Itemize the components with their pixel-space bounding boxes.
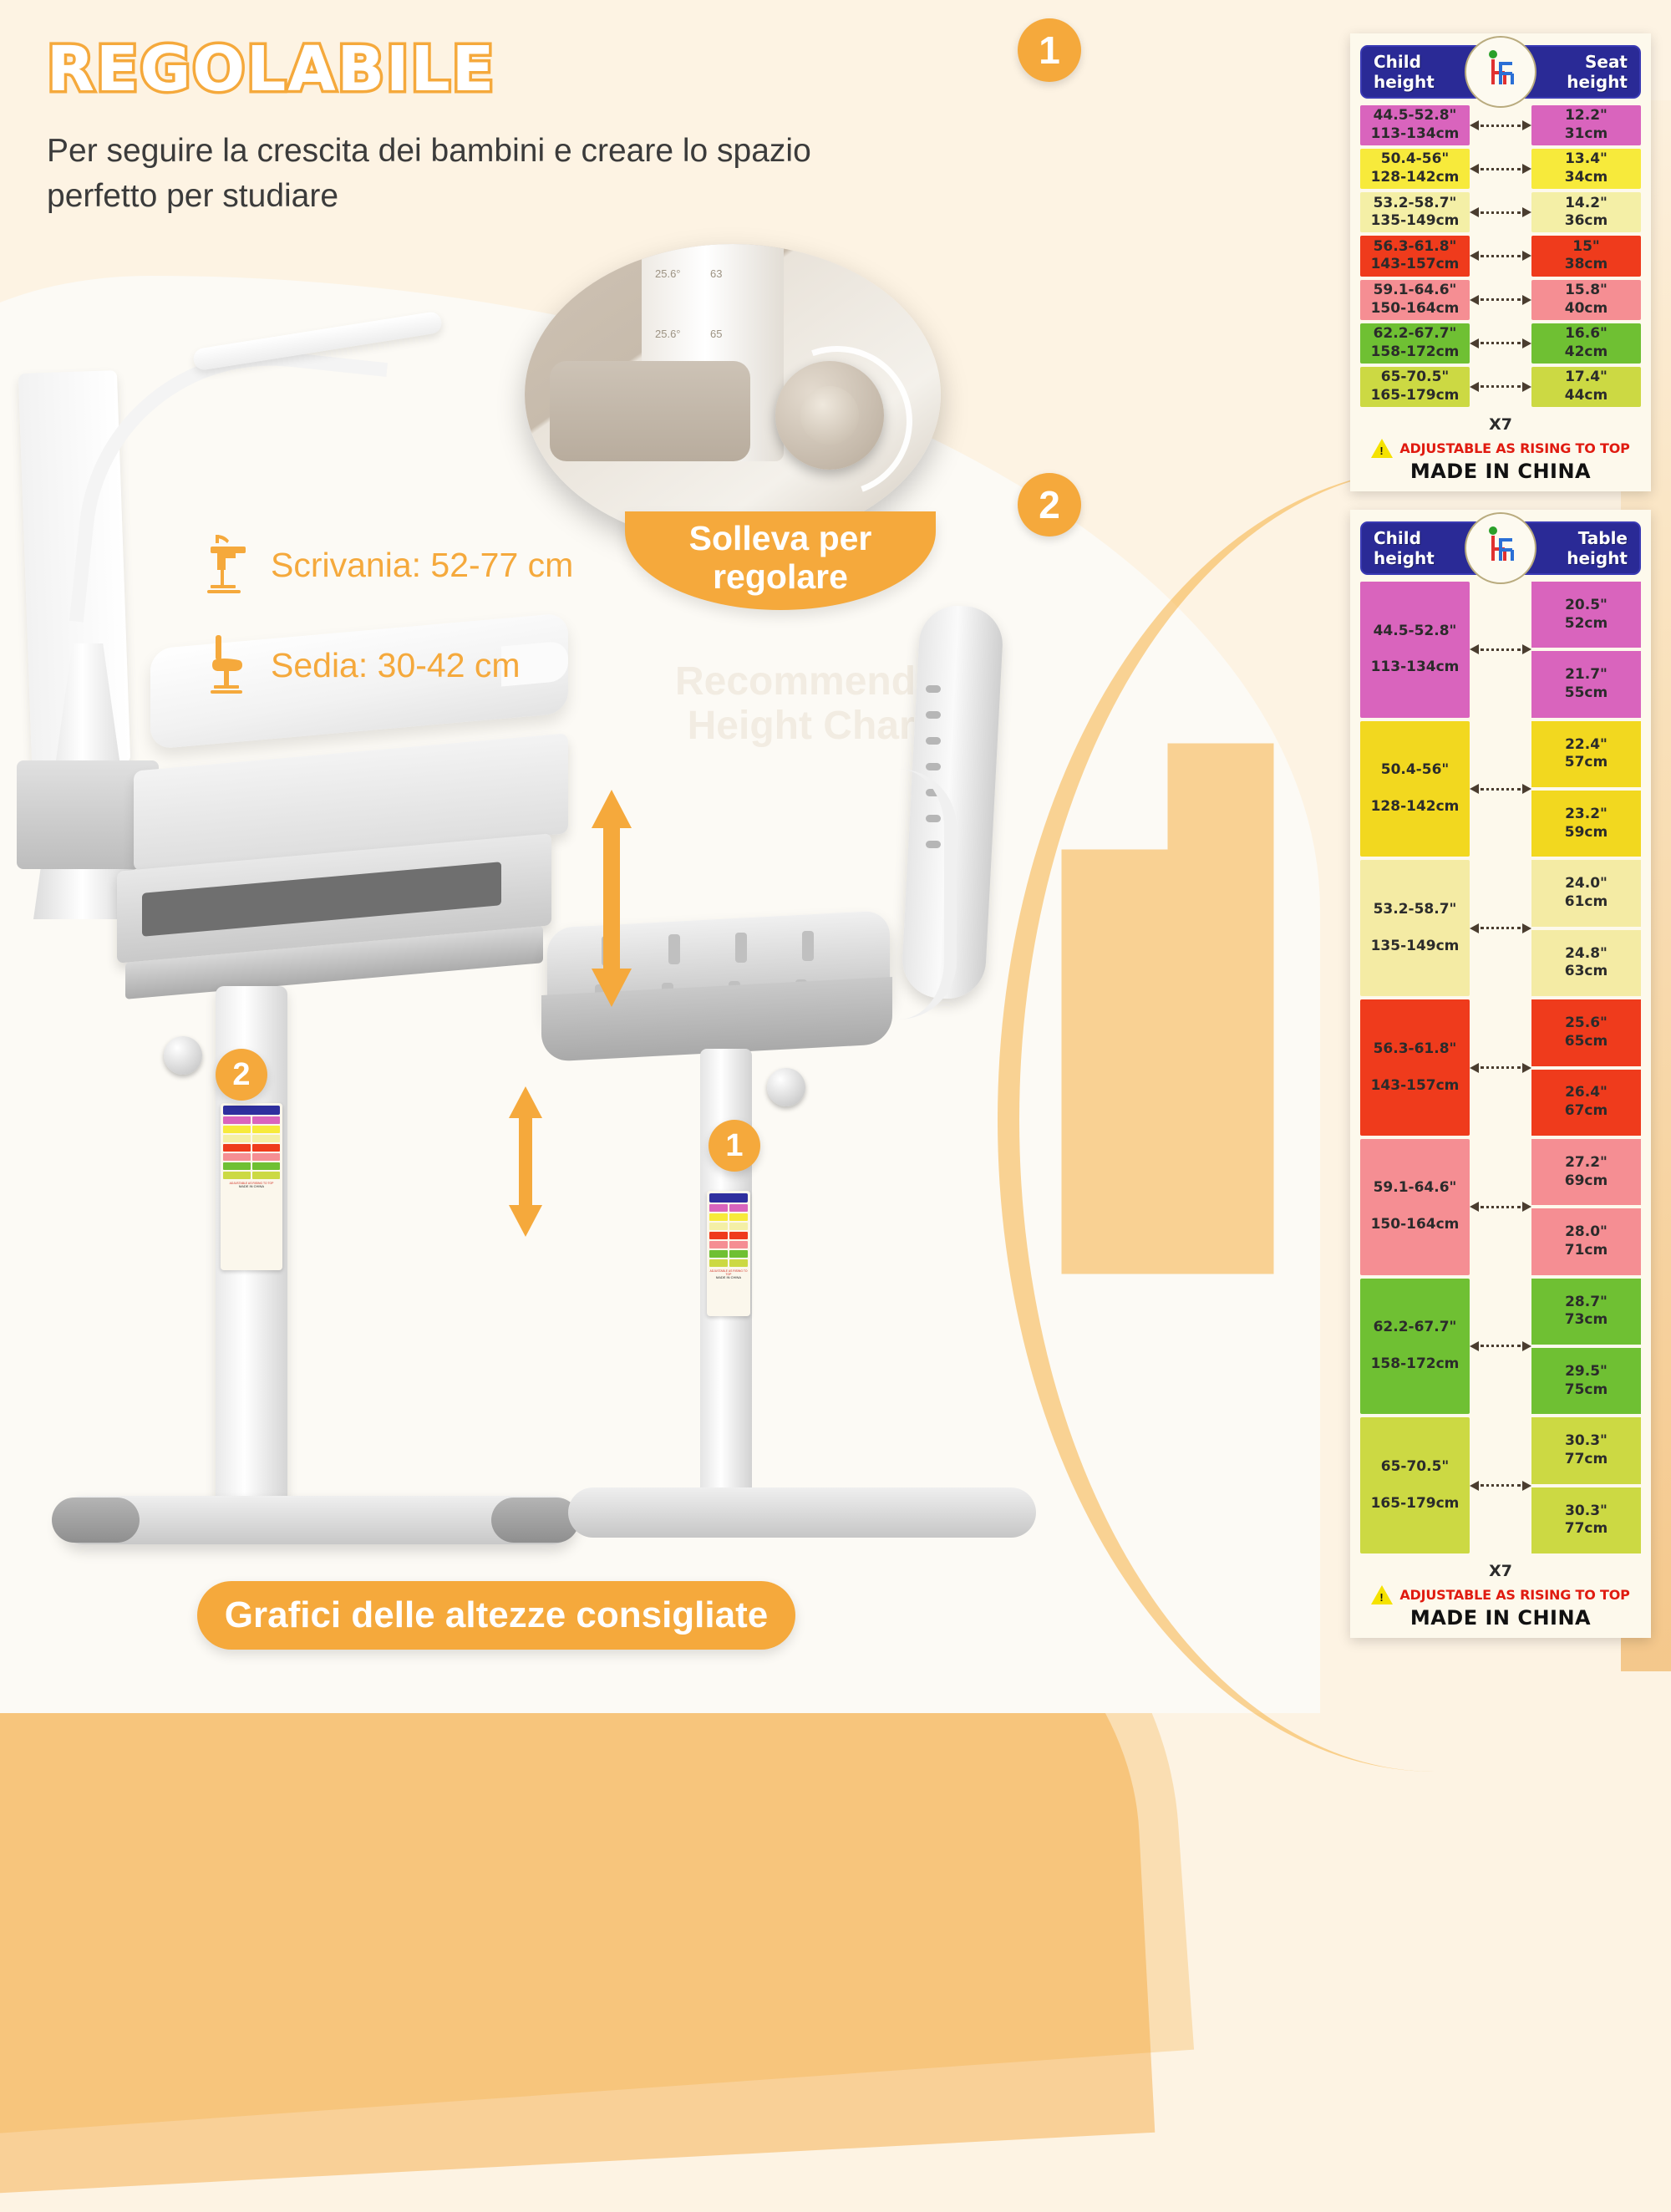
row-connector — [1470, 236, 1531, 276]
table-height-inches: 21.7" — [1565, 666, 1608, 684]
child-height-inches: 44.5-52.8" — [1374, 623, 1457, 641]
double-arrow-icon — [1470, 1062, 1531, 1074]
double-arrow-icon — [1470, 1480, 1531, 1492]
table-row: 65-70.5" 165-179cm 30.3" 77cm 30.3" 77cm — [1360, 1417, 1641, 1553]
table-height-cm: 75cm — [1565, 1381, 1608, 1400]
bottom-banner: Grafici delle altezze consigliate — [197, 1581, 795, 1650]
chart-2-table-height-cell: 24.8" 63cm — [1531, 930, 1641, 996]
chart-2-table-height-cell: 26.4" 67cm — [1531, 1070, 1641, 1136]
double-arrow-icon — [1470, 923, 1531, 934]
chair-foot — [568, 1487, 1036, 1538]
table-height-cm: 77cm — [1565, 1451, 1608, 1469]
magnified-micro-label: 63 — [710, 267, 722, 280]
table-height-inches: 30.3" — [1565, 1432, 1608, 1451]
chart-2-table-height-cell: 21.7" 55cm — [1531, 651, 1641, 717]
seated-child-icon — [1465, 36, 1536, 108]
row-connector — [1470, 1139, 1531, 1275]
table-height-inches: 27.2" — [1565, 1154, 1608, 1172]
seat-height-chart: Child height Seat height 44.5-52.8" 113-… — [1350, 33, 1651, 491]
table-row: 44.5-52.8" 113-134cm 12.2" 31cm — [1360, 105, 1641, 145]
child-height-inches: 56.3-61.8" — [1374, 1040, 1457, 1059]
chart-1-child-height-cell: 50.4-56" 128-142cm — [1360, 149, 1470, 189]
chart-2-child-height-cell: 44.5-52.8" 113-134cm — [1360, 582, 1470, 718]
chart-2-child-height-cell: 50.4-56" 128-142cm — [1360, 721, 1470, 857]
magnified-micro-label: 65 — [710, 328, 722, 340]
child-height-cm: 158-172cm — [1371, 343, 1460, 362]
chart-1-col-right-label: Seat height — [1527, 52, 1628, 92]
child-height-cm: 165-179cm — [1371, 387, 1460, 405]
row-connector — [1470, 323, 1531, 364]
chart-2-count-label: X7 — [1360, 1562, 1641, 1580]
table-height-cm: 61cm — [1565, 893, 1608, 912]
table-height-cm: 69cm — [1565, 1172, 1608, 1191]
chair-height-knob — [767, 1068, 805, 1106]
chart-2-child-height-cell: 59.1-64.6" 150-164cm — [1360, 1139, 1470, 1275]
table-height-inches: 20.5" — [1565, 597, 1608, 615]
chart-2-table-height-cell: 28.0" 71cm — [1531, 1208, 1641, 1274]
chart-1-footer: X7 ADJUSTABLE AS RISING TO TOP MADE IN C… — [1360, 410, 1641, 483]
row-connector — [1470, 999, 1531, 1136]
row-connector — [1470, 280, 1531, 320]
chair-height-arrow — [503, 1086, 548, 1241]
desk-height-knob — [164, 1036, 202, 1075]
product-photo: 2 1 ADJUSTABLE AS RISING TO TOPMADE IN C… — [0, 251, 1086, 1671]
row-connector — [1470, 105, 1531, 145]
chart-2-table-height-stack: 27.2" 69cm 28.0" 71cm — [1531, 1139, 1641, 1275]
chart-2-table-height-cell: 22.4" 57cm — [1531, 721, 1641, 787]
table-row: 50.4-56" 128-142cm 13.4" 34cm — [1360, 149, 1641, 189]
table-row: 53.2-58.7" 135-149cm 24.0" 61cm 24.8" 63… — [1360, 860, 1641, 996]
chart-2-table-height-cell: 28.7" 73cm — [1531, 1279, 1641, 1345]
seat-height-inches: 17.4" — [1565, 369, 1608, 387]
row-connector — [1470, 721, 1531, 857]
chart-1-body: 44.5-52.8" 113-134cm 12.2" 31cm 50.4-56"… — [1360, 99, 1641, 410]
table-height-cm: 57cm — [1565, 754, 1608, 772]
table-height-inches: 24.8" — [1565, 945, 1608, 964]
seat-height-cm: 36cm — [1565, 212, 1608, 231]
desk-height-arrow — [585, 790, 638, 1011]
magnified-clamp — [550, 361, 750, 461]
chart-1-step-badge: 1 — [1018, 18, 1081, 82]
chart-2-child-height-cell: 65-70.5" 165-179cm — [1360, 1417, 1470, 1553]
magnified-micro-label: 25.6° — [655, 267, 681, 280]
double-arrow-icon — [1470, 338, 1531, 349]
row-connector — [1470, 860, 1531, 996]
chair-seat-slot — [668, 934, 680, 964]
child-height-cm: 135-149cm — [1371, 212, 1460, 231]
chair-seat-slot — [735, 933, 747, 963]
table-height-inches: 23.2" — [1565, 806, 1608, 824]
double-arrow-icon — [1470, 783, 1531, 795]
chair-icon — [204, 633, 252, 697]
row-connector — [1470, 1417, 1531, 1553]
child-height-inches: 59.1-64.6" — [1374, 1179, 1457, 1198]
table-row: 56.3-61.8" 143-157cm 25.6" 65cm 26.4" 67… — [1360, 999, 1641, 1136]
seat-height-inches: 15.8" — [1565, 282, 1608, 300]
chart-2-table-height-cell: 24.0" 61cm — [1531, 860, 1641, 926]
seat-height-cm: 44cm — [1565, 387, 1608, 405]
seat-height-cm: 34cm — [1565, 169, 1608, 187]
seat-height-inches: 14.2" — [1565, 195, 1608, 213]
child-height-cm: 165-179cm — [1371, 1495, 1460, 1513]
seat-height-inches: 16.6" — [1565, 325, 1608, 343]
table-height-inches: 25.6" — [1565, 1014, 1608, 1033]
chart-2-child-height-cell: 62.2-67.7" 158-172cm — [1360, 1279, 1470, 1415]
child-height-cm: 150-164cm — [1371, 1216, 1460, 1234]
chart-2-header: Child height Table height — [1360, 521, 1641, 575]
chart-1-seat-height-cell: 15" 38cm — [1531, 236, 1641, 276]
chart-2-table-height-stack: 20.5" 52cm 21.7" 55cm — [1531, 582, 1641, 718]
table-row: 56.3-61.8" 143-157cm 15" 38cm — [1360, 236, 1641, 276]
step-badge-chair: 1 — [709, 1120, 760, 1172]
table-row: 59.1-64.6" 150-164cm 27.2" 69cm 28.0" 71… — [1360, 1139, 1641, 1275]
seat-height-inches: 12.2" — [1565, 107, 1608, 125]
chair-seat-slot — [802, 931, 814, 961]
magnifier-inset: 25.6° 63 25.6° 65 — [525, 244, 941, 545]
chart-1-warning-text: ADJUSTABLE AS RISING TO TOP — [1399, 440, 1629, 456]
chart-1-child-height-cell: 44.5-52.8" 113-134cm — [1360, 105, 1470, 145]
double-arrow-icon — [1470, 1340, 1531, 1352]
double-arrow-icon — [1470, 119, 1531, 131]
chart-1-child-height-cell: 65-70.5" 165-179cm — [1360, 367, 1470, 407]
table-row: 62.2-67.7" 158-172cm 16.6" 42cm — [1360, 323, 1641, 364]
chart-2-table-height-stack: 22.4" 57cm 23.2" 59cm — [1531, 721, 1641, 857]
table-height-inches: 24.0" — [1565, 875, 1608, 893]
table-height-cm: 73cm — [1565, 1311, 1608, 1330]
chair-measurement-label: Sedia: 30-42 cm — [204, 633, 521, 697]
chart-1-seat-height-cell: 14.2" 36cm — [1531, 192, 1641, 232]
seat-height-cm: 40cm — [1565, 300, 1608, 318]
chair-range-text: Sedia: 30-42 cm — [271, 646, 521, 685]
callout-line-2: regolare — [689, 558, 872, 597]
table-height-cm: 55cm — [1565, 684, 1608, 703]
page-title: REGOLABILE — [47, 38, 999, 100]
desk-icon — [204, 533, 252, 597]
table-row: 53.2-58.7" 135-149cm 14.2" 36cm — [1360, 192, 1641, 232]
seat-height-cm: 38cm — [1565, 256, 1608, 274]
table-row: 65-70.5" 165-179cm 17.4" 44cm — [1360, 367, 1641, 407]
chart-2-col-right-label: Table height — [1527, 528, 1628, 568]
table-height-cm: 52cm — [1565, 615, 1608, 633]
table-height-chart: Child height Table height 44.5-52.8" 113… — [1350, 510, 1651, 1638]
magnified-micro-label: 25.6° — [655, 328, 681, 340]
chart-2-table-height-cell: 30.3" 77cm — [1531, 1417, 1641, 1483]
chart-2-table-height-cell: 27.2" 69cm — [1531, 1139, 1641, 1205]
header: REGOLABILE Per seguire la crescita dei b… — [47, 38, 999, 219]
chart-2-table-height-stack: 25.6" 65cm 26.4" 67cm — [1531, 999, 1641, 1136]
table-row: 62.2-67.7" 158-172cm 28.7" 73cm 29.5" 75… — [1360, 1279, 1641, 1415]
child-height-cm: 128-142cm — [1371, 798, 1460, 816]
child-height-cm: 143-157cm — [1371, 1077, 1460, 1096]
chart-1-child-height-cell: 62.2-67.7" 158-172cm — [1360, 323, 1470, 364]
desk-foot-cap-left — [52, 1498, 140, 1543]
table-height-cm: 67cm — [1565, 1102, 1608, 1121]
double-arrow-icon — [1470, 163, 1531, 175]
table-height-cm: 77cm — [1565, 1520, 1608, 1538]
desk-range-text: Scrivania: 52-77 cm — [271, 546, 573, 585]
table-height-inches: 28.0" — [1565, 1223, 1608, 1242]
chart-2-child-height-cell: 53.2-58.7" 135-149cm — [1360, 860, 1470, 996]
child-height-cm: 143-157cm — [1371, 256, 1460, 274]
chart-2-origin-text: MADE IN CHINA — [1360, 1606, 1641, 1630]
child-height-inches: 53.2-58.7" — [1374, 195, 1457, 213]
chart-2-step-badge: 2 — [1018, 473, 1081, 536]
mini-height-chart-desk: ADJUSTABLE AS RISING TO TOPMADE IN CHINA — [221, 1103, 282, 1270]
warning-triangle-icon — [1371, 439, 1393, 458]
mini-origin-text: MADE IN CHINA — [716, 1275, 741, 1279]
table-row: 50.4-56" 128-142cm 22.4" 57cm 23.2" 59cm — [1360, 721, 1641, 857]
callout-line-1: Solleva per — [689, 520, 872, 558]
seat-height-cm: 42cm — [1565, 343, 1608, 362]
chart-1-col-left-label: Child height — [1374, 52, 1474, 92]
chart-2-table-height-stack: 30.3" 77cm 30.3" 77cm — [1531, 1417, 1641, 1553]
chart-1-child-height-cell: 53.2-58.7" 135-149cm — [1360, 192, 1470, 232]
page-subtitle: Per seguire la crescita dei bambini e cr… — [47, 129, 899, 219]
table-row: 44.5-52.8" 113-134cm 20.5" 52cm 21.7" 55… — [1360, 582, 1641, 718]
child-height-inches: 44.5-52.8" — [1374, 107, 1457, 125]
chart-1-child-height-cell: 56.3-61.8" 143-157cm — [1360, 236, 1470, 276]
table-height-inches: 22.4" — [1565, 736, 1608, 755]
child-height-inches: 62.2-67.7" — [1374, 1319, 1457, 1337]
chart-2-body: 44.5-52.8" 113-134cm 20.5" 52cm 21.7" 55… — [1360, 575, 1641, 1557]
row-connector — [1470, 149, 1531, 189]
chart-1-seat-height-cell: 15.8" 40cm — [1531, 280, 1641, 320]
seat-height-inches: 15" — [1572, 238, 1600, 257]
row-connector — [1470, 582, 1531, 718]
seated-child-icon — [1465, 512, 1536, 584]
child-height-inches: 50.4-56" — [1381, 150, 1450, 169]
desk-foot-cap-right — [491, 1498, 579, 1543]
chart-2-table-height-stack: 24.0" 61cm 24.8" 63cm — [1531, 860, 1641, 996]
double-arrow-icon — [1470, 294, 1531, 306]
seat-height-inches: 13.4" — [1565, 150, 1608, 169]
child-height-inches: 53.2-58.7" — [1374, 901, 1457, 919]
row-connector — [1470, 1279, 1531, 1415]
table-height-cm: 71cm — [1565, 1242, 1608, 1260]
child-height-inches: 65-70.5" — [1381, 369, 1450, 387]
desk-measurement-label: Scrivania: 52-77 cm — [204, 533, 573, 597]
child-height-inches: 56.3-61.8" — [1374, 238, 1457, 257]
chart-1-origin-text: MADE IN CHINA — [1360, 460, 1641, 483]
child-height-inches: 59.1-64.6" — [1374, 282, 1457, 300]
chart-1-header: Child height Seat height — [1360, 45, 1641, 99]
chart-2-table-height-stack: 28.7" 73cm 29.5" 75cm — [1531, 1279, 1641, 1415]
chart-1-seat-height-cell: 16.6" 42cm — [1531, 323, 1641, 364]
table-height-inches: 30.3" — [1565, 1503, 1608, 1521]
chart-1-child-height-cell: 59.1-64.6" 150-164cm — [1360, 280, 1470, 320]
table-height-inches: 29.5" — [1565, 1363, 1608, 1381]
chart-2-col-left-label: Child height — [1374, 528, 1474, 568]
table-height-cm: 63cm — [1565, 963, 1608, 981]
mini-height-chart-chair: ADJUSTABLE AS RISING TO TOPMADE IN CHINA — [707, 1191, 750, 1316]
double-arrow-icon — [1470, 250, 1531, 262]
warning-triangle-icon — [1371, 1585, 1393, 1604]
table-height-inches: 26.4" — [1565, 1084, 1608, 1102]
step-badge-desk: 2 — [216, 1049, 267, 1101]
child-height-cm: 113-134cm — [1371, 659, 1460, 677]
child-height-cm: 135-149cm — [1371, 938, 1460, 956]
table-height-cm: 59cm — [1565, 824, 1608, 842]
chart-2-footer: X7 ADJUSTABLE AS RISING TO TOP MADE IN C… — [1360, 1557, 1641, 1630]
chart-1-warning-line: ADJUSTABLE AS RISING TO TOP — [1360, 439, 1641, 458]
chart-2-child-height-cell: 56.3-61.8" 143-157cm — [1360, 999, 1470, 1136]
child-height-inches: 50.4-56" — [1381, 761, 1450, 780]
table-height-cm: 65cm — [1565, 1033, 1608, 1051]
double-arrow-icon — [1470, 1201, 1531, 1213]
chart-2-table-height-cell: 20.5" 52cm — [1531, 582, 1641, 648]
chart-2-table-height-cell: 29.5" 75cm — [1531, 1348, 1641, 1414]
double-arrow-icon — [1470, 643, 1531, 655]
chart-2-table-height-cell: 23.2" 59cm — [1531, 791, 1641, 857]
row-connector — [1470, 367, 1531, 407]
chart-2-warning-line: ADJUSTABLE AS RISING TO TOP — [1360, 1585, 1641, 1604]
double-arrow-icon — [1470, 381, 1531, 393]
seat-height-cm: 31cm — [1565, 125, 1608, 144]
row-connector — [1470, 192, 1531, 232]
chart-2-table-height-cell: 30.3" 77cm — [1531, 1487, 1641, 1553]
bottom-banner-label: Grafici delle altezze consigliate — [225, 1594, 768, 1636]
chart-1-seat-height-cell: 12.2" 31cm — [1531, 105, 1641, 145]
child-height-cm: 158-172cm — [1371, 1355, 1460, 1374]
chart-2-table-height-cell: 25.6" 65cm — [1531, 999, 1641, 1065]
table-height-inches: 28.7" — [1565, 1294, 1608, 1312]
child-height-cm: 113-134cm — [1371, 125, 1460, 144]
child-height-cm: 150-164cm — [1371, 300, 1460, 318]
mini-origin-text: MADE IN CHINA — [239, 1184, 264, 1188]
child-height-inches: 62.2-67.7" — [1374, 325, 1457, 343]
child-height-cm: 128-142cm — [1371, 169, 1460, 187]
table-row: 59.1-64.6" 150-164cm 15.8" 40cm — [1360, 280, 1641, 320]
child-height-inches: 65-70.5" — [1381, 1458, 1450, 1477]
chart-2-warning-text: ADJUSTABLE AS RISING TO TOP — [1399, 1587, 1629, 1603]
chart-1-count-label: X7 — [1360, 415, 1641, 434]
chart-1-seat-height-cell: 17.4" 44cm — [1531, 367, 1641, 407]
double-arrow-icon — [1470, 206, 1531, 218]
chart-1-seat-height-cell: 13.4" 34cm — [1531, 149, 1641, 189]
